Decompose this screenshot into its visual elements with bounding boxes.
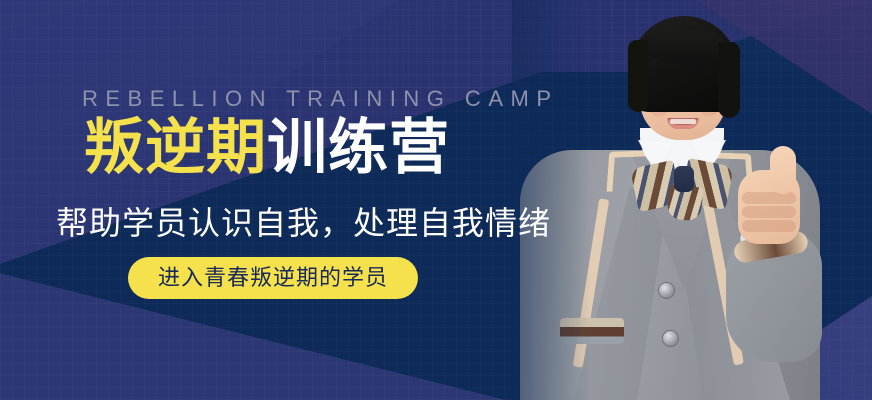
cta-button[interactable]: 进入青春叛逆期的学员 bbox=[128, 257, 418, 299]
headline-highlight: 叛逆期 bbox=[84, 114, 267, 181]
eyebrow-text: REBELLION TRAINING CAMP bbox=[82, 86, 559, 112]
student-photo bbox=[512, 0, 872, 400]
page-title: 叛逆期训练营 bbox=[84, 118, 450, 178]
subtitle-text: 帮助学员认识自我，处理自我情绪 bbox=[56, 198, 551, 244]
promo-banner: REBELLION TRAINING CAMP 叛逆期训练营 帮助学员认识自我，… bbox=[0, 0, 872, 400]
photo-edge-shade bbox=[512, 0, 872, 400]
banner-copy: REBELLION TRAINING CAMP 叛逆期训练营 帮助学员认识自我，… bbox=[0, 0, 560, 400]
headline-rest: 训练营 bbox=[267, 114, 450, 181]
